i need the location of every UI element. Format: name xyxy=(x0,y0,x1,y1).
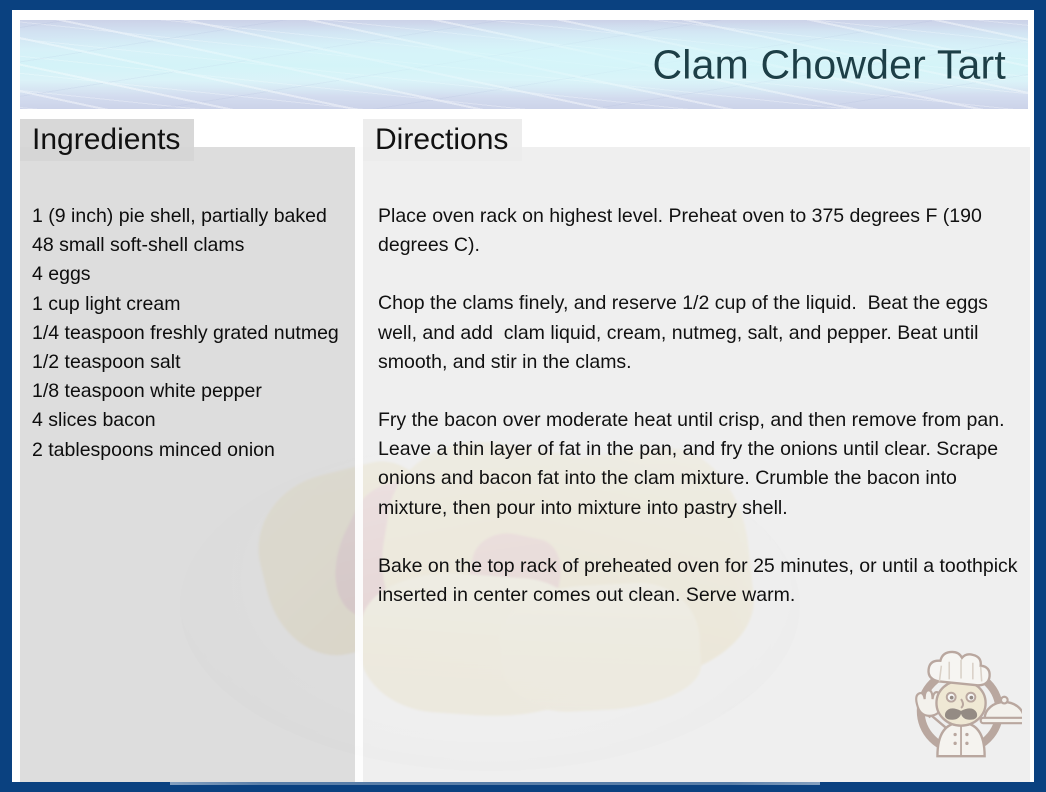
ingredient-item: 1 cup light cream xyxy=(32,290,362,319)
ingredient-item: 4 slices bacon xyxy=(32,406,362,435)
direction-step: Place oven rack on highest level. Prehea… xyxy=(378,202,1028,260)
direction-step: Chop the clams finely, and reserve 1/2 c… xyxy=(378,289,1028,377)
directions-heading: Directions xyxy=(363,119,522,161)
ingredient-item: 48 small soft-shell clams xyxy=(32,231,362,260)
directions-list: Place oven rack on highest level. Prehea… xyxy=(378,202,1028,610)
recipe-card: Clam Chowder Tart Ingredients Directions… xyxy=(0,0,1046,792)
ingredients-heading: Ingredients xyxy=(20,119,194,161)
ingredient-item: 4 eggs xyxy=(32,260,362,289)
ingredient-item: 1/2 teaspoon salt xyxy=(32,348,362,377)
page-title: Clam Chowder Tart xyxy=(652,41,1006,88)
ingredient-item: 2 tablespoons minced onion xyxy=(32,436,362,465)
header-banner: Clam Chowder Tart xyxy=(20,20,1028,109)
ingredient-item: 1 (9 inch) pie shell, partially baked xyxy=(32,202,362,231)
ingredient-item: 1/4 teaspoon freshly grated nutmeg xyxy=(32,319,362,348)
ingredient-item: 1/8 teaspoon white pepper xyxy=(32,377,362,406)
direction-step: Bake on the top rack of preheated oven f… xyxy=(378,552,1028,610)
chef-mascot-logo xyxy=(904,646,1022,764)
card-inner: Clam Chowder Tart Ingredients Directions… xyxy=(12,10,1034,782)
ingredients-list: 1 (9 inch) pie shell, partially baked48 … xyxy=(32,202,362,465)
direction-step: Fry the bacon over moderate heat until c… xyxy=(378,406,1028,523)
